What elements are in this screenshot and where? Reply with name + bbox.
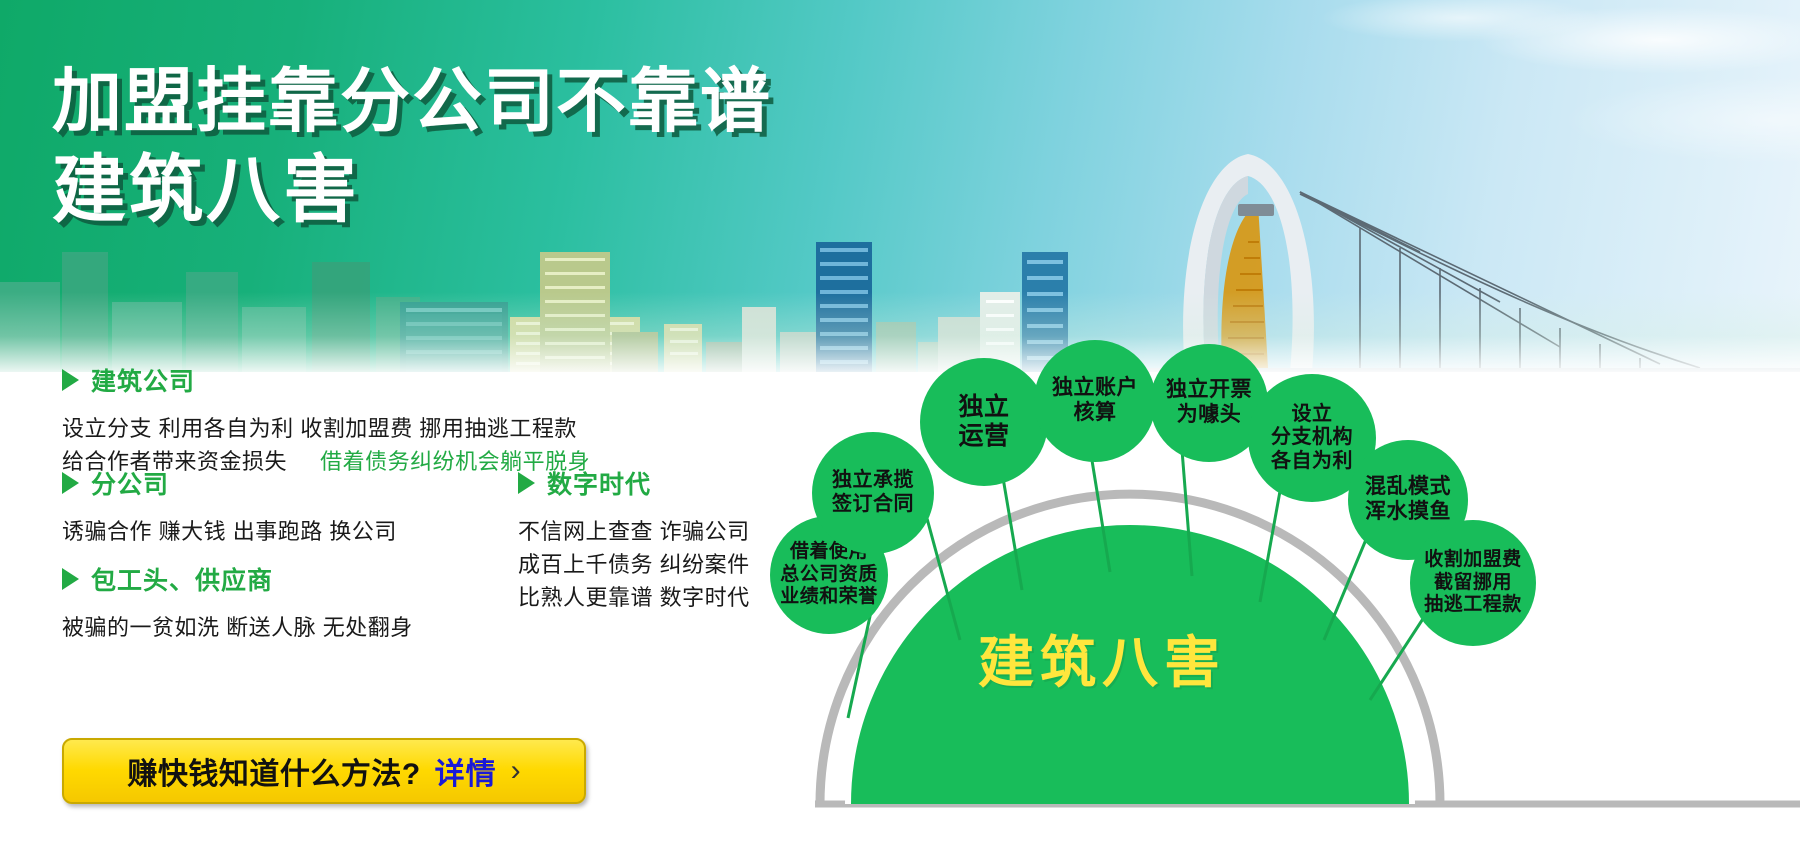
section-body: 诱骗合作 赚大钱 出事跑路 换公司	[62, 515, 542, 548]
bubble-3-line-2: 运营	[958, 422, 1009, 452]
section-title: 建筑公司	[91, 362, 195, 398]
section-title: 分公司	[91, 465, 169, 501]
section-branch-company: 分公司 诱骗合作 赚大钱 出事跑路 换公司	[62, 465, 542, 548]
section-title: 包工头、供应商	[91, 561, 273, 597]
bubble-4[interactable]: 独立账户 核算	[1034, 340, 1156, 462]
triangle-bullet-icon	[62, 472, 79, 494]
bubble-7-line-2: 浑水摸鱼	[1365, 500, 1451, 525]
bubble-8-line-3: 抽逃工程款	[1424, 594, 1522, 616]
section-body: 不信网上查查 诈骗公司 成百上千债务 纠纷案件 比熟人更靠谱 数字时代	[518, 515, 778, 614]
bubble-5-line-1: 独立开票	[1166, 378, 1252, 403]
section-line-1: 不信网上查查 诈骗公司	[518, 515, 778, 548]
section-line-1: 诱骗合作 赚大钱 出事跑路 换公司	[62, 515, 542, 548]
bubble-7-line-1: 混乱模式	[1365, 475, 1451, 500]
bubble-2-line-1: 独立承揽	[832, 469, 914, 493]
section-header: 建筑公司	[62, 362, 682, 398]
section-line-3: 比熟人更靠谱 数字时代	[518, 581, 778, 614]
section-body: 被骗的一贫如洗 断送人脉 无处翻身	[62, 611, 582, 644]
triangle-bullet-icon	[62, 369, 79, 391]
bubble-2[interactable]: 独立承揽 签订合同	[812, 432, 934, 554]
section-line-2: 成百上千债务 纠纷案件	[518, 548, 778, 581]
bubble-6-line-2: 分支机构	[1271, 426, 1353, 450]
triangle-bullet-icon	[62, 568, 79, 590]
poster-canvas: 加盟挂靠分公司不靠谱 建筑八害 建筑公司 设立分支 利用各自为利 收割加盟费 挪…	[0, 0, 1800, 844]
bubble-1-line-2: 总公司资质	[780, 564, 878, 586]
cta-button[interactable]: 赚快钱知道什么方法? 详情 ›	[62, 738, 586, 804]
bubble-5-line-2: 为噱头	[1166, 403, 1252, 428]
bubble-2-line-2: 签订合同	[832, 493, 914, 517]
section-construction-company: 建筑公司 设立分支 利用各自为利 收割加盟费 挪用抽逃工程款 给合作者带来资金损…	[62, 362, 682, 478]
bubble-3[interactable]: 独立 运营	[920, 358, 1048, 486]
bubble-3-line-1: 独立	[958, 393, 1009, 423]
chevron-right-icon: ›	[511, 754, 521, 788]
dome-center-label: 建筑八害	[978, 618, 1226, 699]
cta-detail-link[interactable]: 详情	[435, 749, 497, 793]
hero-title-line2: 建筑八害	[52, 144, 772, 236]
section-line-1: 设立分支 利用各自为利 收割加盟费 挪用抽逃工程款	[62, 412, 682, 445]
bubble-8[interactable]: 收割加盟费 截留挪用 抽逃工程款	[1410, 520, 1536, 646]
bubble-6-line-3: 各自为利	[1271, 450, 1353, 474]
hero-title-line1: 加盟挂靠分公司不靠谱	[52, 58, 772, 144]
section-contractor-supplier: 包工头、供应商 被骗的一贫如洗 断送人脉 无处翻身	[62, 561, 582, 644]
bubble-8-line-2: 截留挪用	[1424, 572, 1522, 594]
hero-title: 加盟挂靠分公司不靠谱 建筑八害	[52, 58, 772, 236]
bubble-8-line-1: 收割加盟费	[1424, 549, 1522, 571]
section-title: 数字时代	[547, 465, 651, 501]
section-header: 数字时代	[518, 465, 778, 501]
triangle-bullet-icon	[518, 472, 535, 494]
bubble-1-line-3: 业绩和荣誉	[780, 586, 878, 608]
bubble-dome-diagram: 借着使用 总公司资质 业绩和荣誉 独立承揽 签订合同 独立 运营 独立账户 核算	[790, 340, 1800, 844]
bubble-6-line-1: 设立	[1271, 403, 1353, 427]
bubble-4-line-2: 核算	[1052, 401, 1138, 426]
bubble-4-line-1: 独立账户	[1052, 376, 1138, 401]
section-header: 分公司	[62, 465, 542, 501]
hero-banner: 加盟挂靠分公司不靠谱 建筑八害	[0, 0, 1800, 372]
cta-label: 赚快钱知道什么方法?	[127, 749, 420, 793]
section-digital-era: 数字时代 不信网上查查 诈骗公司 成百上千债务 纠纷案件 比熟人更靠谱 数字时代	[518, 465, 778, 614]
section-line-1: 被骗的一贫如洗 断送人脉 无处翻身	[62, 611, 582, 644]
section-header: 包工头、供应商	[62, 561, 582, 597]
